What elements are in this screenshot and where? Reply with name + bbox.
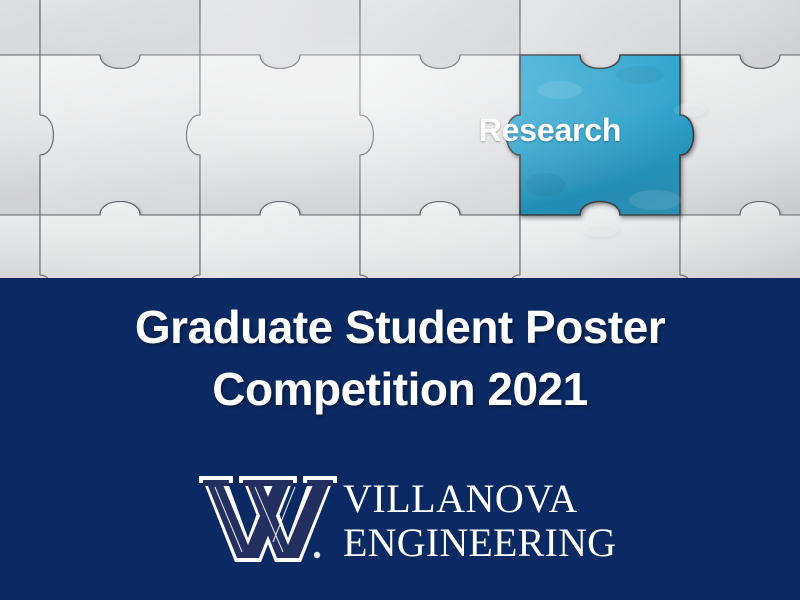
poster-canvas: Research Graduate Student Poster Competi…: [0, 0, 800, 600]
poster-title-block: Graduate Student Poster Competition 2021: [0, 296, 800, 420]
poster-title-line-2: Competition 2021: [0, 358, 800, 420]
villanova-engineering-logo-graphic: VILLANOVA ENGINEERING: [195, 470, 615, 565]
villanova-engineering-logo: VILLANOVA ENGINEERING: [195, 470, 615, 565]
logo-wordmark-villanova: VILLANOVA: [343, 476, 578, 521]
villanova-v-monogram-icon: [199, 476, 337, 562]
puzzle-image-region: Research: [0, 0, 800, 278]
jigsaw-puzzle-graphic: [0, 0, 800, 278]
poster-title-line-1: Graduate Student Poster: [0, 296, 800, 358]
logo-wordmark-engineering: ENGINEERING: [343, 520, 615, 565]
